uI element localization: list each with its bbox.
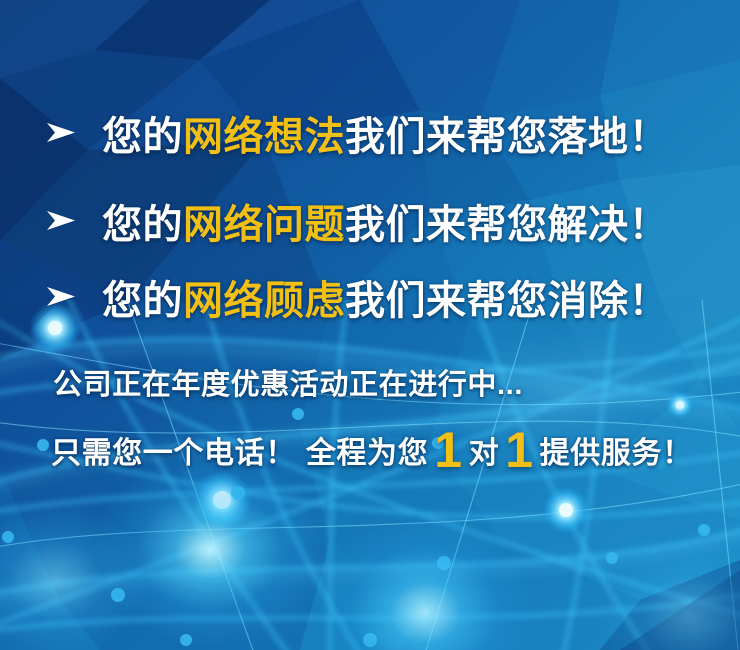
bullet-item-1: 您的网络想法我们来帮您落地！ [46, 104, 669, 162]
banner-content: 您的网络想法我们来帮您落地！ 您的网络问题我们来帮您解决！ 您的网络顾虑我们来帮… [0, 0, 740, 650]
promo-banner: 您的网络想法我们来帮您落地！ 您的网络问题我们来帮您解决！ 您的网络顾虑我们来帮… [0, 0, 740, 650]
bullet-highlight-2: 网络问题 [183, 203, 345, 247]
bullet-text-2: 您的网络问题我们来帮您解决！ [102, 192, 669, 250]
bullet-item-3: 您的网络顾虑我们来帮您消除！ [46, 268, 669, 326]
cta-line: 只需您一个电话！ 全程为您 1 对 1 提供服务！ [51, 428, 693, 472]
promo-line: 公司正在年度优惠活动正在进行中... [53, 361, 523, 403]
bullet-text-3: 您的网络顾虑我们来帮您消除！ [102, 268, 669, 326]
cta-lead: 只需您一个电话！ [51, 428, 296, 472]
bullet-highlight-3: 网络顾虑 [183, 279, 345, 323]
bullet-prefix-2: 您的 [102, 203, 183, 247]
arrow-right-icon [46, 284, 76, 310]
bullet-text-1: 您的网络想法我们来帮您落地！ [102, 104, 669, 162]
bullet-suffix-3: 我们来帮您消除！ [345, 279, 669, 323]
bullet-item-2: 您的网络问题我们来帮您解决！ [46, 192, 669, 250]
bullet-suffix-1: 我们来帮您落地！ [345, 115, 669, 159]
arrow-right-icon [46, 120, 76, 146]
bullet-prefix-1: 您的 [102, 115, 183, 159]
cta-between: 对 [469, 428, 500, 472]
bullet-highlight-1: 网络想法 [183, 115, 345, 159]
cta-middle: 全程为您 [306, 428, 428, 472]
arrow-right-icon [46, 208, 76, 234]
bullet-prefix-3: 您的 [102, 279, 183, 323]
bullet-suffix-2: 我们来帮您解决！ [345, 203, 669, 247]
cta-tail: 提供服务！ [540, 428, 693, 472]
